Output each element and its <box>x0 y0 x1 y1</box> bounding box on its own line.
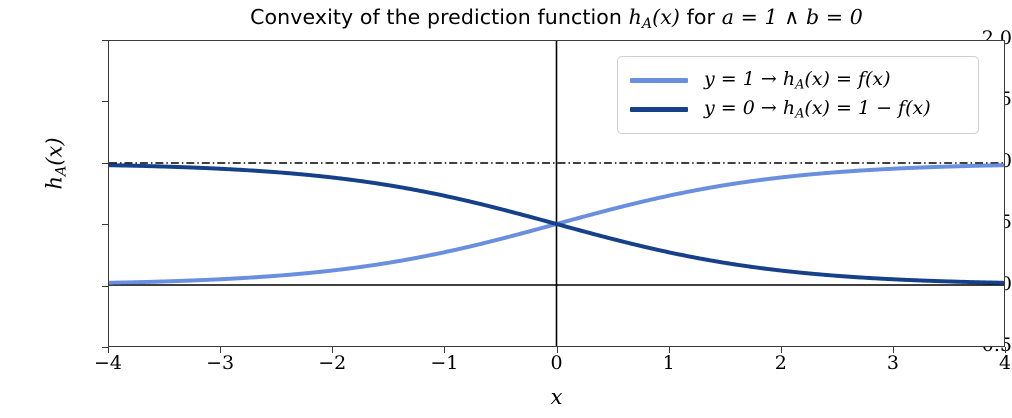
x-tick-mark-8 <box>1005 347 1006 353</box>
x-tick-label-2: −2 <box>302 352 362 374</box>
x-tick-label-0: −4 <box>78 352 138 374</box>
legend-1-rhs: = 1 − f(x) <box>830 97 931 119</box>
title-mid-text: for <box>680 5 722 29</box>
x-tick-label-5: 1 <box>639 352 699 374</box>
title-h-subscript: A <box>642 16 652 32</box>
legend-item-1[interactable]: y = 0 → hA(x) = 1 − f(x) <box>630 95 966 124</box>
legend-0-h-argument: (x) <box>804 68 830 90</box>
y-axis-label: hA(x) <box>43 103 70 223</box>
x-axis-label: x <box>108 385 1005 409</box>
legend-label-series-1: y = 0 → hA(x) = 1 − f(x) <box>704 97 931 122</box>
x-tick-label-1: −3 <box>190 352 250 374</box>
x-tick-mark-4 <box>557 347 558 353</box>
title-lead-text: Convexity of the prediction function <box>250 5 629 29</box>
legend-0-h-subscript: A <box>795 78 804 93</box>
xlabel-symbol: x <box>551 385 563 409</box>
x-tick-mark-0 <box>108 347 109 353</box>
title-h-argument: (x) <box>652 5 680 29</box>
ylabel-h-argument: (x) <box>43 137 67 165</box>
legend-0-rhs: = f(x) <box>830 68 891 90</box>
chart-figure: Convexity of the prediction function hA(… <box>0 0 1012 418</box>
legend-0-h-symbol: h <box>783 68 795 90</box>
chart-title: Convexity of the prediction function hA(… <box>108 5 1005 32</box>
legend-item-0[interactable]: y = 1 → hA(x) = f(x) <box>630 66 966 95</box>
x-tick-label-7: 3 <box>863 352 923 374</box>
legend-label-series-0: y = 1 → hA(x) = f(x) <box>704 68 891 93</box>
legend-swatch-series-1 <box>630 107 688 112</box>
legend-1-h-subscript: A <box>795 107 804 122</box>
x-tick-label-3: −1 <box>414 352 474 374</box>
ylabel-h-symbol: h <box>43 176 67 190</box>
x-tick-mark-6 <box>781 347 782 353</box>
ylabel-h-subscript: A <box>53 166 69 176</box>
x-tick-mark-1 <box>220 347 221 353</box>
x-tick-label-6: 2 <box>751 352 811 374</box>
legend-1-lhs: y = 0 → <box>704 97 783 119</box>
legend-0-lhs: y = 1 → <box>704 68 783 90</box>
x-tick-mark-2 <box>332 347 333 353</box>
x-tick-mark-5 <box>669 347 670 353</box>
x-tick-label-8: 4 <box>975 352 1012 374</box>
chart-legend[interactable]: y = 1 → hA(x) = f(x) y = 0 → hA(x) = 1 −… <box>617 56 979 134</box>
legend-1-h-symbol: h <box>783 97 795 119</box>
legend-1-h-argument: (x) <box>804 97 830 119</box>
title-h-symbol: h <box>629 5 642 29</box>
legend-swatch-series-0 <box>630 78 688 83</box>
x-tick-label-4: 0 <box>527 352 587 374</box>
title-expression: a = 1 ∧ b = 0 <box>722 5 863 29</box>
x-tick-mark-7 <box>893 347 894 353</box>
x-tick-mark-3 <box>444 347 445 353</box>
